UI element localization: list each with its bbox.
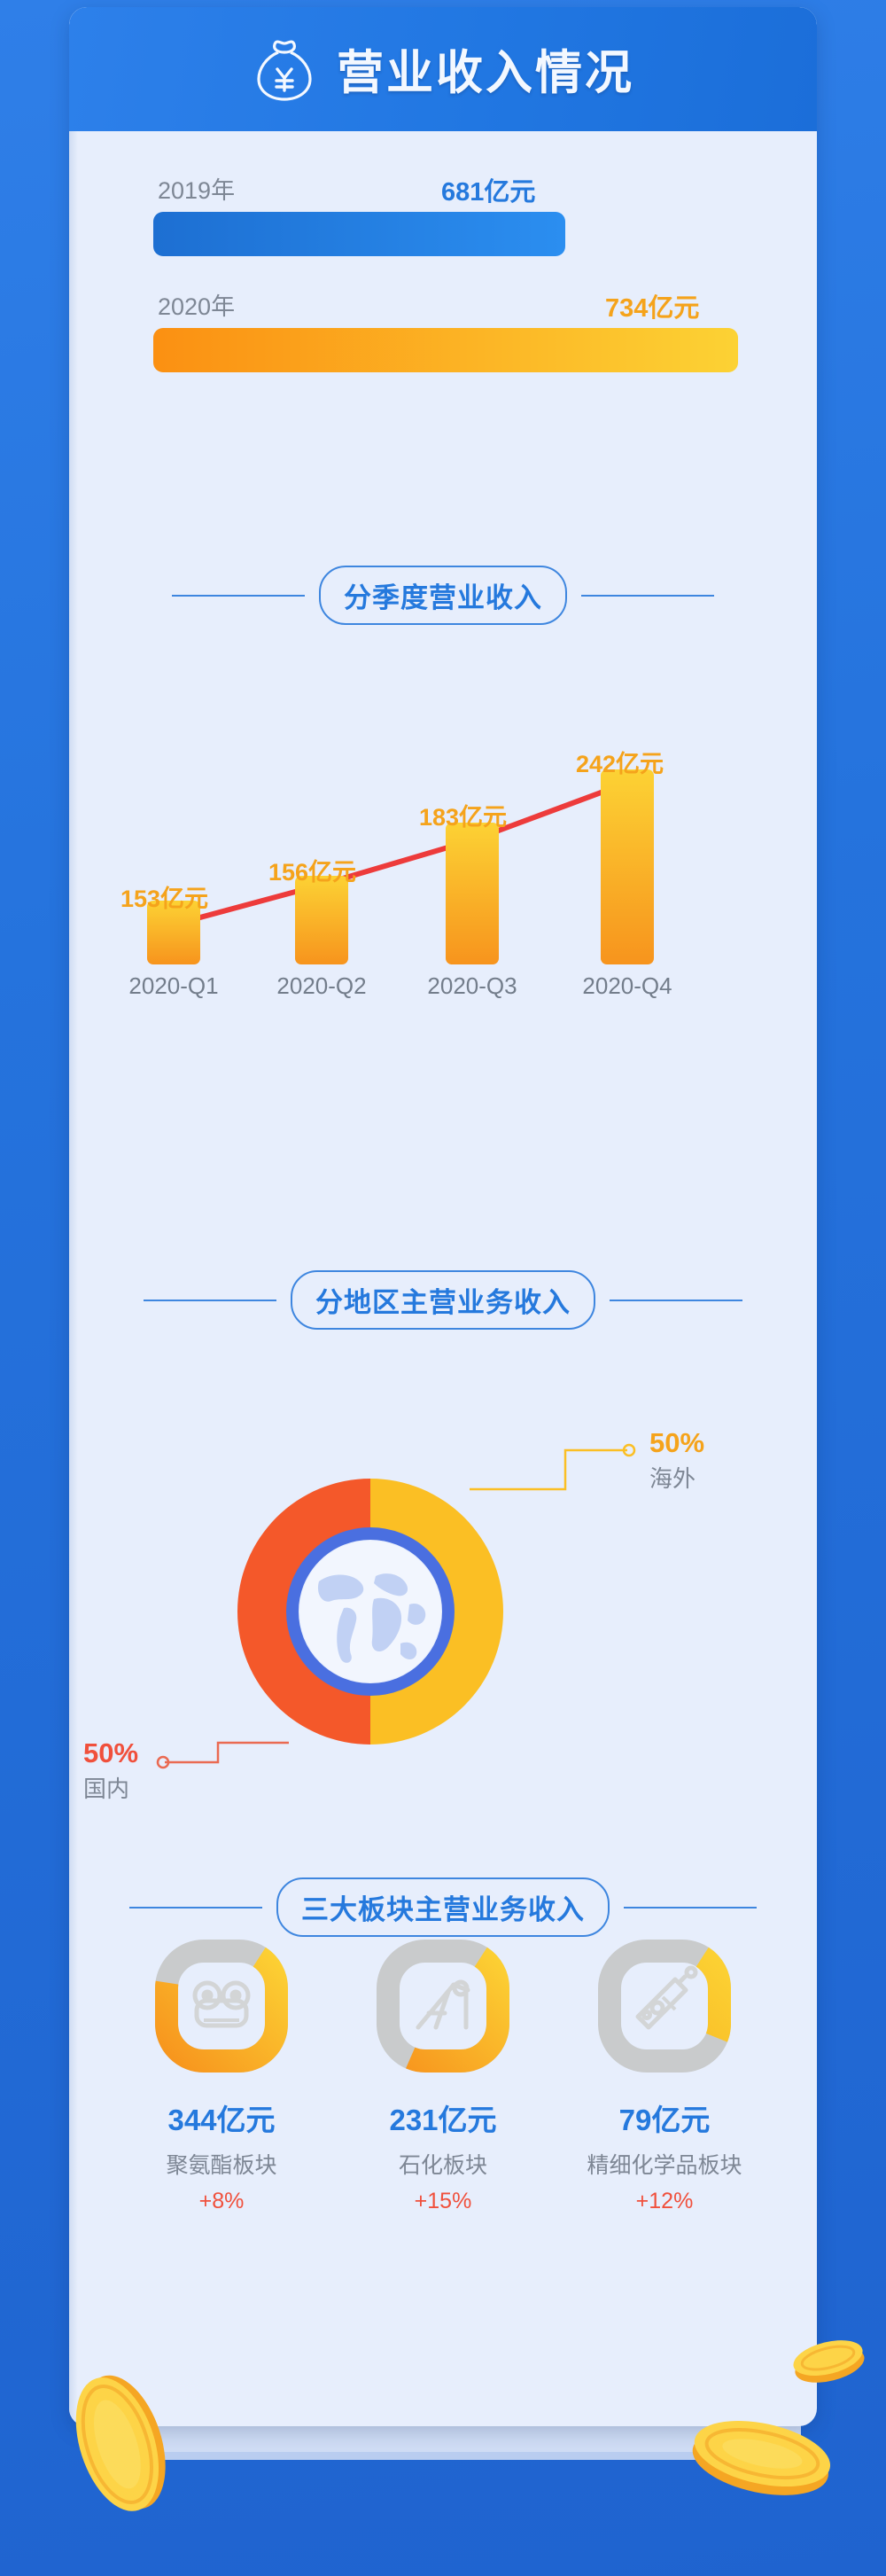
quarterly-value-q2: 156亿元 bbox=[268, 853, 356, 887]
section-title-quarterly: 分季度营业收入 bbox=[69, 566, 817, 625]
segment-delta-3: +12% bbox=[563, 2189, 766, 2214]
segment-ring-3 bbox=[594, 1935, 735, 2077]
infographic-root: 营业收入情况 2019年 681亿元 2020年 734亿元 分季度营 bbox=[0, 0, 886, 2576]
divider-line-left bbox=[129, 1907, 262, 1909]
region-revenue-chart: 50% 海外 50% 国内 bbox=[69, 1372, 817, 1869]
segment-ring-2 bbox=[372, 1935, 514, 2077]
segment-ring-1 bbox=[151, 1935, 292, 2077]
yearly-bar-2019 bbox=[153, 212, 565, 256]
yearly-value-2020: 734亿元 bbox=[605, 287, 699, 324]
yearly-label-2019: 2019年 bbox=[158, 171, 235, 206]
oil-pump-jack-icon bbox=[418, 1982, 468, 2027]
region-legend-overseas: 50% 海外 bbox=[649, 1427, 704, 1494]
quarterly-bar-q2 bbox=[295, 876, 348, 964]
quarterly-value-q3: 183亿元 bbox=[419, 798, 507, 832]
page-title: 营业收入情况 bbox=[337, 35, 634, 103]
segment-name-3: 精细化学品板块 bbox=[563, 2148, 766, 2180]
yearly-revenue-chart: 2019年 681亿元 2020年 734亿元 bbox=[69, 171, 817, 403]
main-card: 营业收入情况 2019年 681亿元 2020年 734亿元 分季度营 bbox=[69, 7, 817, 2426]
section-title-segments-label: 三大板块主营业务收入 bbox=[276, 1877, 610, 1937]
divider-line-right bbox=[610, 1300, 742, 1301]
quarterly-axis-q1: 2020-Q1 bbox=[107, 972, 240, 1000]
quarterly-bar-q4 bbox=[601, 769, 654, 964]
gold-coin-decoration-right bbox=[682, 2393, 859, 2526]
robot-face-icon bbox=[195, 1983, 248, 2026]
divider-line-right bbox=[624, 1907, 757, 1909]
segment-card-petrochemical: 231亿元 石化板块 +15% bbox=[342, 1935, 544, 2214]
header-bar: 营业收入情况 bbox=[69, 7, 817, 131]
region-label-overseas: 海外 bbox=[649, 1461, 704, 1494]
yearly-row-2020: 2020年 734亿元 bbox=[69, 287, 817, 380]
section-title-segments: 三大板块主营业务收入 bbox=[69, 1877, 817, 1937]
quarterly-axis-q3: 2020-Q3 bbox=[406, 972, 539, 1000]
segment-delta-2: +15% bbox=[342, 2189, 544, 2214]
gold-coin-decoration-small bbox=[780, 2322, 877, 2393]
region-pct-domestic: 50% bbox=[83, 1737, 138, 1769]
segment-name-2: 石化板块 bbox=[342, 2148, 544, 2180]
segment-amount-1: 344亿元 bbox=[120, 2096, 323, 2139]
section-title-region: 分地区主营业务收入 bbox=[69, 1270, 817, 1330]
region-pct-overseas: 50% bbox=[649, 1427, 704, 1459]
divider-line-right bbox=[581, 595, 714, 597]
segment-revenue-cards: 344亿元 聚氨酯板块 +8% bbox=[69, 1935, 817, 2214]
yearly-label-2020: 2020年 bbox=[158, 287, 235, 322]
region-donut-svg bbox=[69, 1372, 817, 1869]
segment-card-fine-chemicals: 79亿元 精细化学品板块 +12% bbox=[563, 1935, 766, 2214]
quarterly-axis-q2: 2020-Q2 bbox=[255, 972, 388, 1000]
chemistry-flask-icon bbox=[638, 1968, 696, 2027]
segment-delta-1: +8% bbox=[120, 2189, 323, 2214]
region-label-domestic: 国内 bbox=[83, 1771, 138, 1804]
divider-line-left bbox=[172, 595, 305, 597]
quarterly-revenue-chart: 153亿元 156亿元 183亿元 242亿元 2020-Q1 2020-Q2 … bbox=[69, 699, 817, 1000]
section-title-region-label: 分地区主营业务收入 bbox=[291, 1270, 595, 1330]
region-legend-domestic: 50% 国内 bbox=[83, 1737, 138, 1804]
money-bag-yuan-icon bbox=[252, 35, 317, 103]
quarterly-value-q4: 242亿元 bbox=[576, 745, 664, 779]
segment-card-polyurethane: 344亿元 聚氨酯板块 +8% bbox=[120, 1935, 323, 2214]
segment-amount-2: 231亿元 bbox=[342, 2096, 544, 2139]
quarterly-value-q1: 153亿元 bbox=[120, 879, 208, 914]
callout-line-domestic bbox=[165, 1743, 289, 1762]
gold-coin-decoration-left bbox=[35, 2358, 213, 2526]
callout-line-overseas bbox=[470, 1450, 627, 1489]
segment-name-1: 聚氨酯板块 bbox=[120, 2148, 323, 2180]
segment-amount-3: 79亿元 bbox=[563, 2096, 766, 2139]
divider-line-left bbox=[144, 1300, 276, 1301]
yearly-value-2019: 681亿元 bbox=[441, 171, 535, 208]
quarterly-axis-q4: 2020-Q4 bbox=[561, 972, 694, 1000]
yearly-bar-2020 bbox=[153, 328, 738, 372]
yearly-row-2019: 2019年 681亿元 bbox=[69, 171, 817, 264]
quarterly-bar-q3 bbox=[446, 823, 499, 964]
section-title-quarterly-label: 分季度营业收入 bbox=[319, 566, 567, 625]
